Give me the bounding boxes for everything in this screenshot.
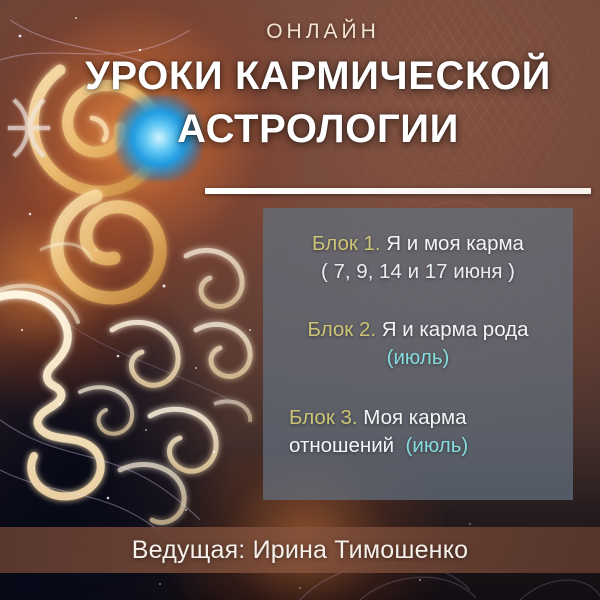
kicker-label: ОНЛАЙН	[0, 20, 600, 44]
title-line-2: АСТРОЛОГИИ	[44, 103, 592, 156]
block-2-label: Блок 2.	[307, 318, 376, 341]
presenter-name: Ведущая: Ирина Тимошенко	[0, 527, 600, 573]
page-title: УРОКИ КАРМИЧЕСКОЙ АСТРОЛОГИИ	[44, 50, 592, 156]
block-1-title: Я и моя карма	[381, 232, 524, 255]
block-3-title: Моя карма	[358, 406, 467, 429]
title-divider	[205, 188, 591, 194]
list-item: Блок 3. Моя карма отношений (июль)	[277, 404, 559, 460]
title-line-1: УРОКИ КАРМИЧЕСКОЙ	[85, 54, 551, 98]
block-1-dates: ( 7, 9, 14 и 17 июня )	[321, 260, 515, 283]
promo-poster: ОНЛАЙН УРОКИ КАРМИЧЕСКОЙ АСТРОЛОГИИ Блок…	[0, 0, 600, 600]
list-item: Блок 1. Я и моя карма ( 7, 9, 14 и 17 ию…	[277, 230, 559, 286]
block-3-month: (июль)	[406, 434, 469, 457]
block-1-label: Блок 1.	[312, 232, 381, 255]
fractal-shell-secondary-icon	[57, 196, 160, 298]
list-item: Блок 2. Я и карма рода (июль)	[277, 316, 559, 372]
block-3-label: Блок 3.	[289, 406, 358, 429]
block-2-title: Я и карма рода	[376, 318, 528, 341]
block-3-subtitle: отношений	[289, 434, 394, 457]
block-2-month: (июль)	[387, 346, 450, 369]
blocks-list: Блок 1. Я и моя карма ( 7, 9, 14 и 17 ию…	[263, 208, 573, 500]
